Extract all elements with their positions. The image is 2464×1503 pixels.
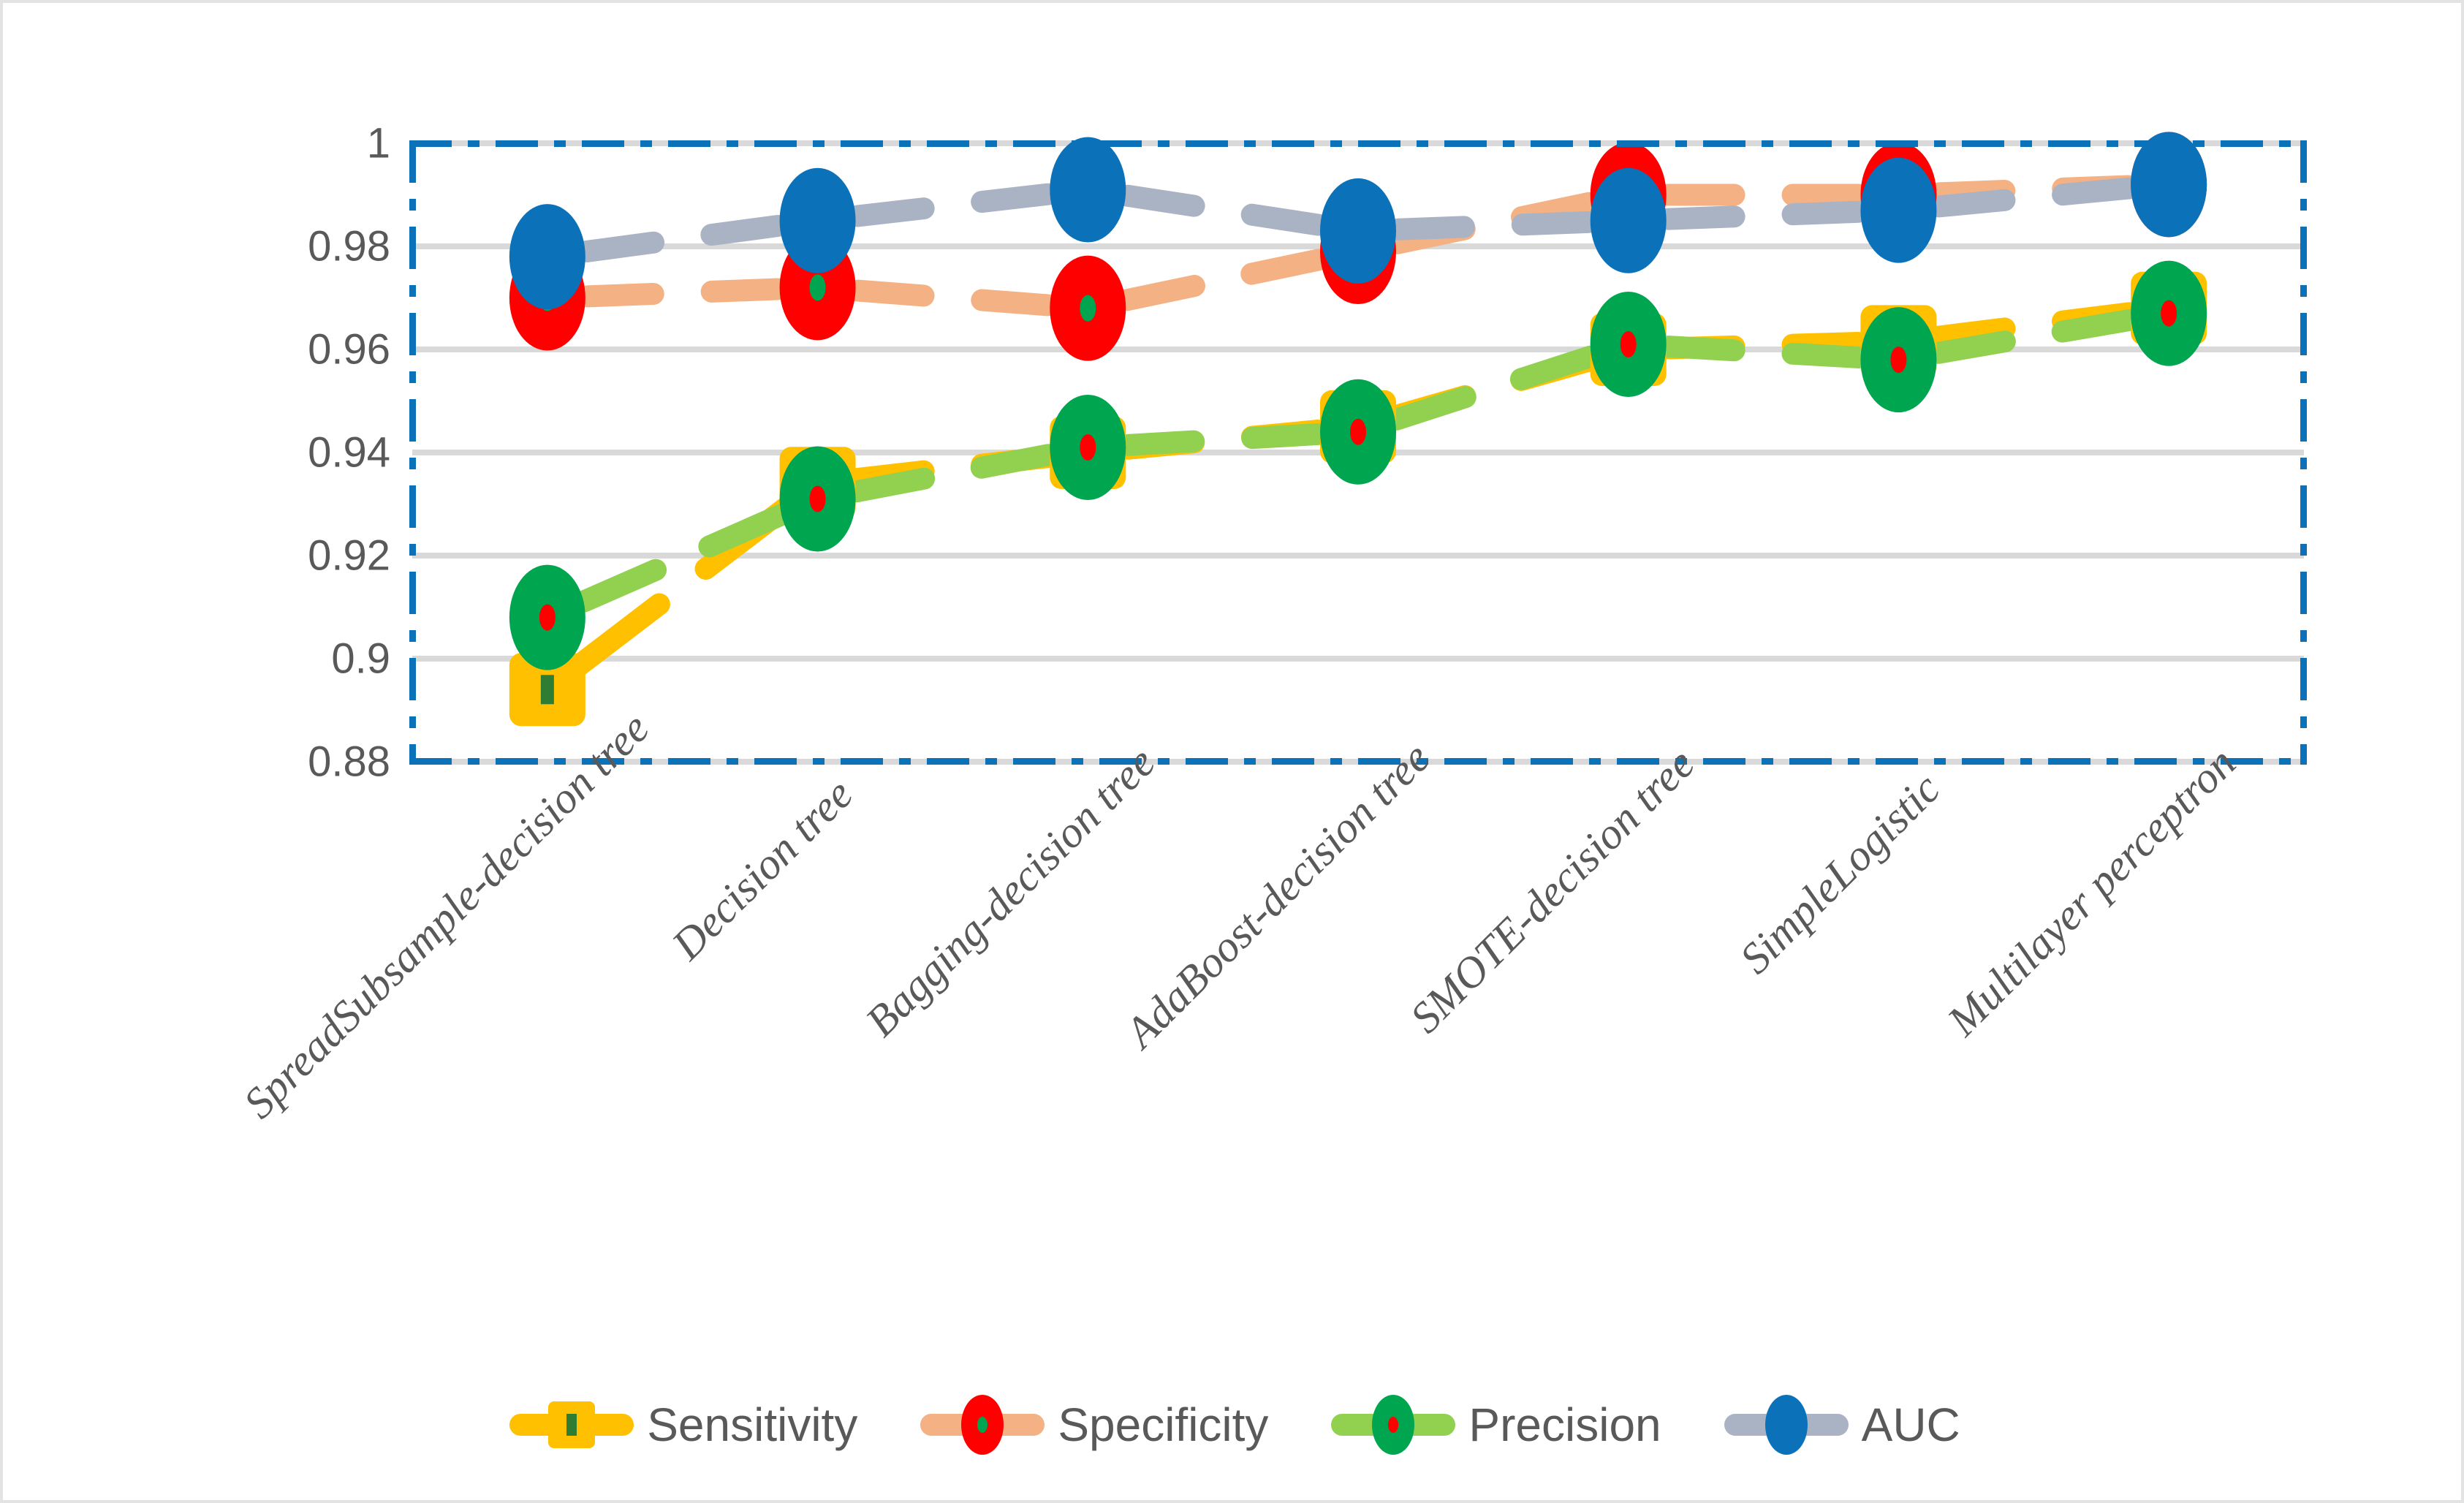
legend-item-precision[interactable]: Precision (1331, 1398, 1661, 1452)
x-axis-label-1: Decision tree (662, 769, 863, 970)
line-segment (1398, 227, 1464, 229)
line-segment (1938, 200, 2004, 207)
line-segment (2063, 320, 2129, 332)
legend-label: Specificity (1058, 1398, 1268, 1452)
marker-auc (1860, 158, 1936, 263)
legend-item-auc[interactable]: AUC (1724, 1398, 1960, 1452)
marker-inner-dot (1080, 434, 1096, 461)
line-segment (982, 194, 1047, 202)
line-segment (1396, 397, 1465, 420)
marker-auc (509, 204, 585, 309)
legend-marker-inner-dot (566, 1414, 577, 1436)
line-segment (982, 455, 1049, 467)
x-axis-label-3: AdaBoost-decision tree (1115, 733, 1440, 1058)
line-segment (857, 208, 923, 216)
line-segment (1669, 347, 1735, 350)
line-segment (1252, 434, 1318, 438)
line-segment (584, 570, 656, 602)
legend-marker-icon (1372, 1395, 1414, 1455)
line-segment (1128, 196, 1194, 206)
line-segment (1793, 354, 1859, 357)
marker-auc (1050, 137, 1126, 242)
line-segment (1938, 341, 2005, 353)
line-segment (712, 289, 778, 291)
y-axis-tick-label: 0.9 (331, 635, 390, 684)
legend-swatch-auc (1724, 1401, 1849, 1448)
x-axis-category-labels: SpreadSubsample-decision treeDecision tr… (3, 778, 2464, 1333)
line-segment (857, 291, 923, 296)
line-segment (2063, 189, 2128, 195)
y-axis-tick-label: 0.98 (308, 222, 390, 271)
y-axis-tick-label: 0.96 (308, 325, 390, 374)
line-segment (1252, 215, 1319, 225)
x-axis-label-2: Bagging-decision tree (856, 738, 1165, 1047)
line-segment (709, 515, 781, 547)
series-layer (412, 143, 2304, 762)
series-markers-precision (509, 261, 2207, 670)
y-axis-tick-label: 0.94 (308, 428, 390, 477)
legend-label: AUC (1862, 1398, 1960, 1452)
marker-inner-dot (2161, 300, 2177, 327)
marker-inner-dot (1080, 295, 1096, 322)
marker-auc (2131, 132, 2207, 237)
marker-inner-dot (1620, 331, 1637, 357)
marker-inner-dot (539, 605, 556, 631)
line-segment (580, 605, 659, 665)
x-axis-label-4: SMOTE-decision tree (1400, 739, 1705, 1043)
line-segment (711, 226, 778, 235)
legend-label: Precision (1468, 1398, 1661, 1452)
marker-inner-dot (810, 485, 826, 512)
chart-figure: 10.980.960.940.920.90.88 SpreadSubsample… (0, 0, 2464, 1503)
legend-marker-icon (1765, 1395, 1808, 1455)
line-segment (1521, 357, 1590, 379)
legend-label: Sensitivity (647, 1398, 857, 1452)
legend-swatch-precision (1331, 1401, 1455, 1448)
line-segment (857, 479, 925, 491)
line-segment (1523, 222, 1588, 224)
line-segment (1128, 442, 1194, 445)
legend-swatch-sensitivity (509, 1401, 634, 1448)
marker-inner-dot (541, 675, 554, 704)
marker-inner-dot (810, 274, 826, 300)
legend-marker-inner-dot (1388, 1417, 1398, 1433)
legend-marker-icon (961, 1395, 1004, 1455)
chart-legend: SensitivitySpecificityPrecisionAUC (3, 1377, 2464, 1472)
x-axis-label-5: SimpleLogistic (1730, 764, 1950, 984)
line-segment (1127, 286, 1194, 300)
plot-area (412, 143, 2304, 762)
legend-swatch-specificity (920, 1401, 1045, 1448)
line-segment (982, 300, 1047, 306)
y-axis-tick-label: 1 (367, 119, 390, 168)
marker-auc (1320, 178, 1396, 284)
marker-inner-dot (1350, 419, 1366, 445)
marker-auc (1591, 168, 1667, 273)
line-segment (588, 294, 653, 296)
line-segment (587, 243, 653, 251)
marker-auc (780, 168, 856, 273)
marker-inner-dot (1890, 347, 1906, 373)
legend-marker-inner-dot (977, 1417, 988, 1433)
legend-marker-icon (548, 1401, 595, 1448)
x-axis-label-6: Multilayer perceptron (1938, 738, 2246, 1046)
line-segment (1251, 260, 1319, 273)
line-segment (1793, 212, 1859, 214)
legend-item-sensitivity[interactable]: Sensitivity (509, 1398, 857, 1452)
legend-item-specificity[interactable]: Specificity (920, 1398, 1268, 1452)
y-axis-tick-label: 0.92 (308, 531, 390, 580)
line-segment (1669, 216, 1735, 219)
